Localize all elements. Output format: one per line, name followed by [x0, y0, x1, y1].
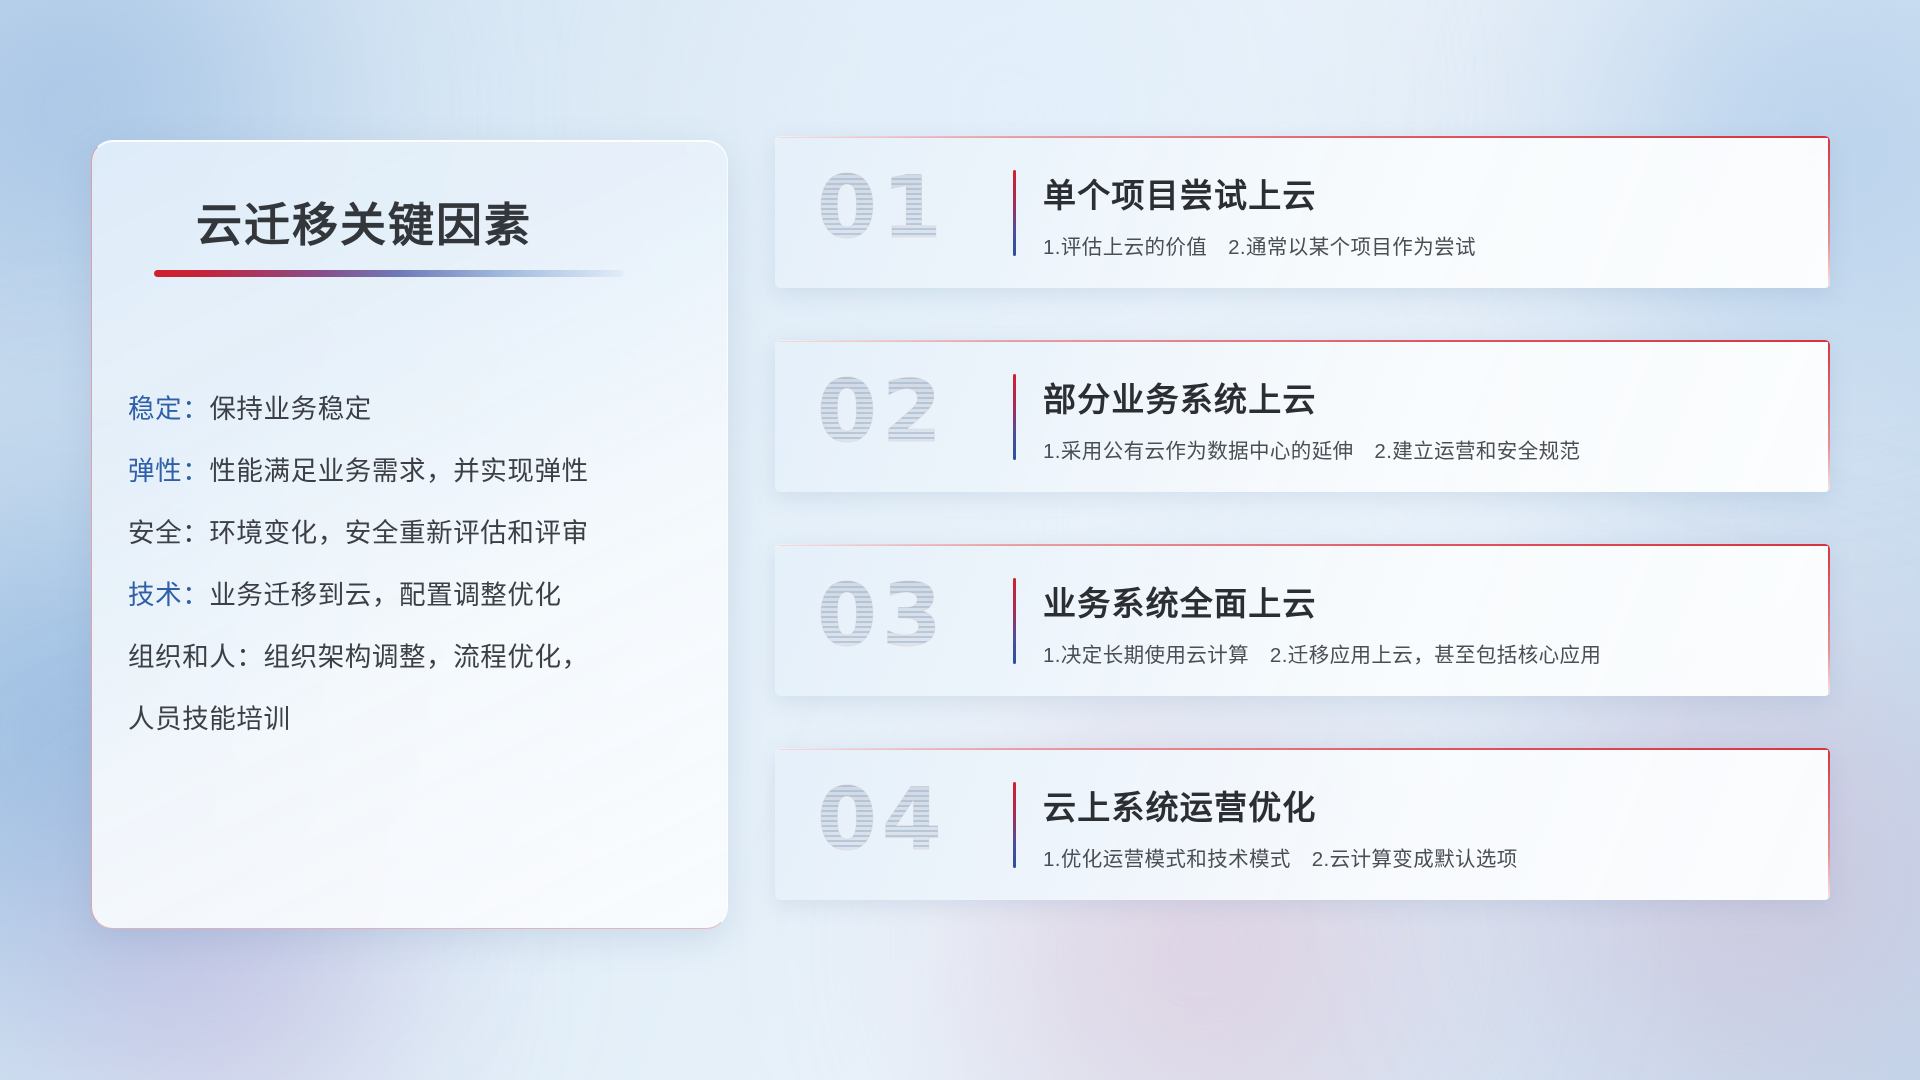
key-factor-text: 业务迁移到云，配置调整优化	[209, 573, 561, 612]
key-factor-row: 人员技能培训	[128, 685, 707, 747]
stage-card[interactable]: 0404云上系统运营优化1.优化运营模式和技术模式 2.云计算变成默认选项	[775, 748, 1830, 900]
stage-number: 04	[817, 770, 947, 870]
slide-stage: 云迁移关键因素 稳定：保持业务稳定弹性：性能满足业务需求，并实现弹性安全：环境变…	[0, 0, 1920, 1080]
stage-card[interactable]: 0202部分业务系统上云1.采用公有云作为数据中心的延伸 2.建立运营和安全规范	[775, 340, 1830, 492]
stage-divider-accent	[1013, 170, 1016, 256]
stage-number: 01	[817, 158, 947, 258]
stage-description: 1.采用公有云作为数据中心的延伸 2.建立运营和安全规范	[1043, 434, 1580, 464]
stage-title: 云上系统运营优化	[1043, 781, 1317, 829]
key-factors-panel: 云迁移关键因素 稳定：保持业务稳定弹性：性能满足业务需求，并实现弹性安全：环境变…	[91, 140, 728, 929]
key-factor-text: 人员技能培训	[128, 697, 291, 736]
key-factor-row: 弹性：性能满足业务需求，并实现弹性	[128, 437, 707, 499]
page-title: 云迁移关键因素	[196, 189, 532, 255]
stage-divider-accent	[1013, 578, 1016, 664]
key-factor-row: 技术：业务迁移到云，配置调整优化	[128, 561, 707, 623]
stage-description: 1.优化运营模式和技术模式 2.云计算变成默认选项	[1043, 842, 1518, 872]
key-factor-row: 组织和人：组织架构调整，流程优化，	[128, 623, 707, 685]
migration-stages-list: 0101单个项目尝试上云1.评估上云的价值 2.通常以某个项目作为尝试0202部…	[775, 136, 1830, 952]
key-factor-text: 保持业务稳定	[209, 387, 372, 426]
stage-divider-accent	[1013, 782, 1016, 868]
key-factor-row: 稳定：保持业务稳定	[128, 375, 707, 437]
key-factor-text: 性能满足业务需求，并实现弹性	[209, 449, 588, 488]
key-factor-row: 安全：环境变化，安全重新评估和评审	[128, 499, 707, 561]
stage-description: 1.决定长期使用云计算 2.迁移应用上云，甚至包括核心应用	[1043, 638, 1601, 668]
stage-title: 业务系统全面上云	[1043, 577, 1317, 625]
key-factor-label: 组织和人：	[128, 635, 264, 674]
stage-title: 部分业务系统上云	[1043, 373, 1317, 421]
key-factor-label: 弹性：	[128, 449, 209, 488]
key-factor-label: 稳定：	[128, 387, 209, 426]
stage-title: 单个项目尝试上云	[1043, 169, 1317, 217]
title-underline-accent	[154, 270, 624, 277]
stage-description: 1.评估上云的价值 2.通常以某个项目作为尝试	[1043, 230, 1476, 260]
key-factor-label: 安全：	[128, 511, 209, 550]
key-factor-text: 环境变化，安全重新评估和评审	[209, 511, 588, 550]
stage-card[interactable]: 0101单个项目尝试上云1.评估上云的价值 2.通常以某个项目作为尝试	[775, 136, 1830, 288]
stage-number: 03	[817, 566, 947, 666]
stage-number: 02	[817, 362, 947, 462]
key-factors-list: 稳定：保持业务稳定弹性：性能满足业务需求，并实现弹性安全：环境变化，安全重新评估…	[128, 375, 707, 747]
key-factor-label: 技术：	[128, 573, 209, 612]
stage-card[interactable]: 0303业务系统全面上云1.决定长期使用云计算 2.迁移应用上云，甚至包括核心应…	[775, 544, 1830, 696]
key-factor-text: 组织架构调整，流程优化，	[264, 635, 589, 674]
stage-divider-accent	[1013, 374, 1016, 460]
